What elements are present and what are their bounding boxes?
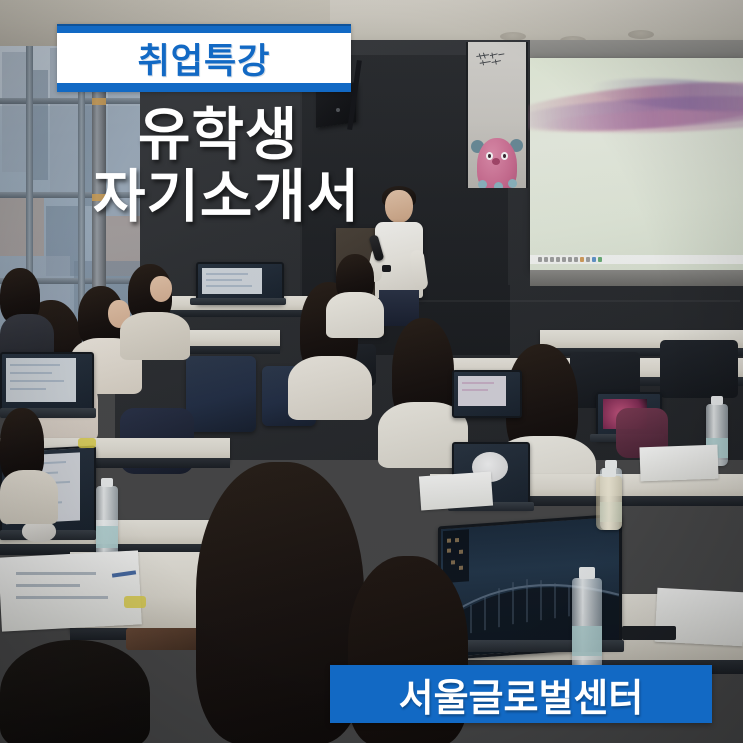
mascot-hand xyxy=(508,179,517,188)
bottle-cap xyxy=(101,478,113,487)
mascot-pupil xyxy=(503,154,506,158)
bottle-label xyxy=(96,526,118,548)
water-bottle xyxy=(596,476,622,530)
student-shoulders xyxy=(288,356,372,420)
poster-card: 취업특강 유학생 자기소개서 서울글로벌센터 xyxy=(0,0,743,743)
laptop-text-line xyxy=(10,372,52,374)
screen-housing xyxy=(530,40,743,60)
sticky-note xyxy=(78,438,96,448)
bottle-label xyxy=(572,626,602,656)
laptop-base xyxy=(190,298,286,305)
toolbar-icon xyxy=(598,257,602,262)
bottle-cap xyxy=(711,396,723,405)
organization-badge: 서울글로벌센터 xyxy=(330,665,712,723)
category-badge: 취업특강 xyxy=(57,24,351,92)
bottle-cap xyxy=(579,567,595,579)
student-shoulders xyxy=(326,292,384,338)
toolbar-icon xyxy=(538,257,542,262)
sticky-note xyxy=(124,596,146,608)
mascot-hand xyxy=(494,182,503,188)
water-bottle xyxy=(96,486,118,558)
badge-bottom-bar xyxy=(57,83,351,92)
title-line-1: 유학생 xyxy=(0,104,340,166)
toolbar-icon xyxy=(580,257,584,262)
wristwatch xyxy=(382,265,391,272)
paper-line xyxy=(16,584,80,587)
mascot-hand xyxy=(478,180,487,188)
toolbar-icon xyxy=(586,257,590,262)
toolbar-icon xyxy=(562,257,566,262)
laptop xyxy=(0,352,94,414)
chair xyxy=(660,340,738,398)
chair xyxy=(186,356,256,432)
organization-badge-label: 서울글로벌센터 xyxy=(399,667,644,722)
laptop xyxy=(452,370,522,418)
student-hair xyxy=(0,640,150,743)
water-bottle xyxy=(572,578,602,670)
mascot-pupil xyxy=(488,154,491,158)
laptop-screen-content xyxy=(202,268,262,294)
poster-title: 유학생 자기소개서 xyxy=(0,104,340,228)
handwritten-text xyxy=(475,51,509,67)
presenter-head xyxy=(385,190,413,223)
laptop-screen-content xyxy=(458,376,506,406)
laptop-text-line xyxy=(462,382,494,384)
laptop-text-line xyxy=(10,380,64,382)
laptop-text-line xyxy=(10,388,46,390)
laptop-text-line xyxy=(206,285,252,287)
screen-bottom-rail xyxy=(530,270,743,286)
toolbar-icon xyxy=(556,257,560,262)
bottle-cap xyxy=(602,468,616,477)
laptop-text-line xyxy=(10,364,60,366)
student-shoulders xyxy=(120,312,190,360)
paper-handout xyxy=(0,550,142,631)
laptop-text-line xyxy=(206,279,242,281)
paper-handout xyxy=(419,472,493,511)
toolbar-icon xyxy=(592,257,596,262)
category-badge-label: 취업특강 xyxy=(57,33,351,83)
paper-line xyxy=(16,596,108,599)
slide-toolbar xyxy=(530,255,743,264)
title-line-2: 자기소개서 xyxy=(0,166,340,228)
paper-line xyxy=(16,572,96,575)
mascot-character xyxy=(470,122,524,188)
laptop-text-line xyxy=(462,389,488,391)
paper-handout xyxy=(639,445,718,482)
student-face xyxy=(150,276,172,302)
toolbar-icon xyxy=(550,257,554,262)
student-shoulders xyxy=(0,470,58,524)
smartphone xyxy=(622,626,676,640)
mascot-banner xyxy=(466,42,528,188)
mascot-nose xyxy=(492,158,500,165)
ceiling-light xyxy=(628,30,654,39)
projection-screen xyxy=(530,58,743,270)
toolbar-icon xyxy=(544,257,548,262)
toolbar-icon xyxy=(568,257,572,262)
laptop-text-line xyxy=(206,273,248,275)
toolbar-icon xyxy=(574,257,578,262)
